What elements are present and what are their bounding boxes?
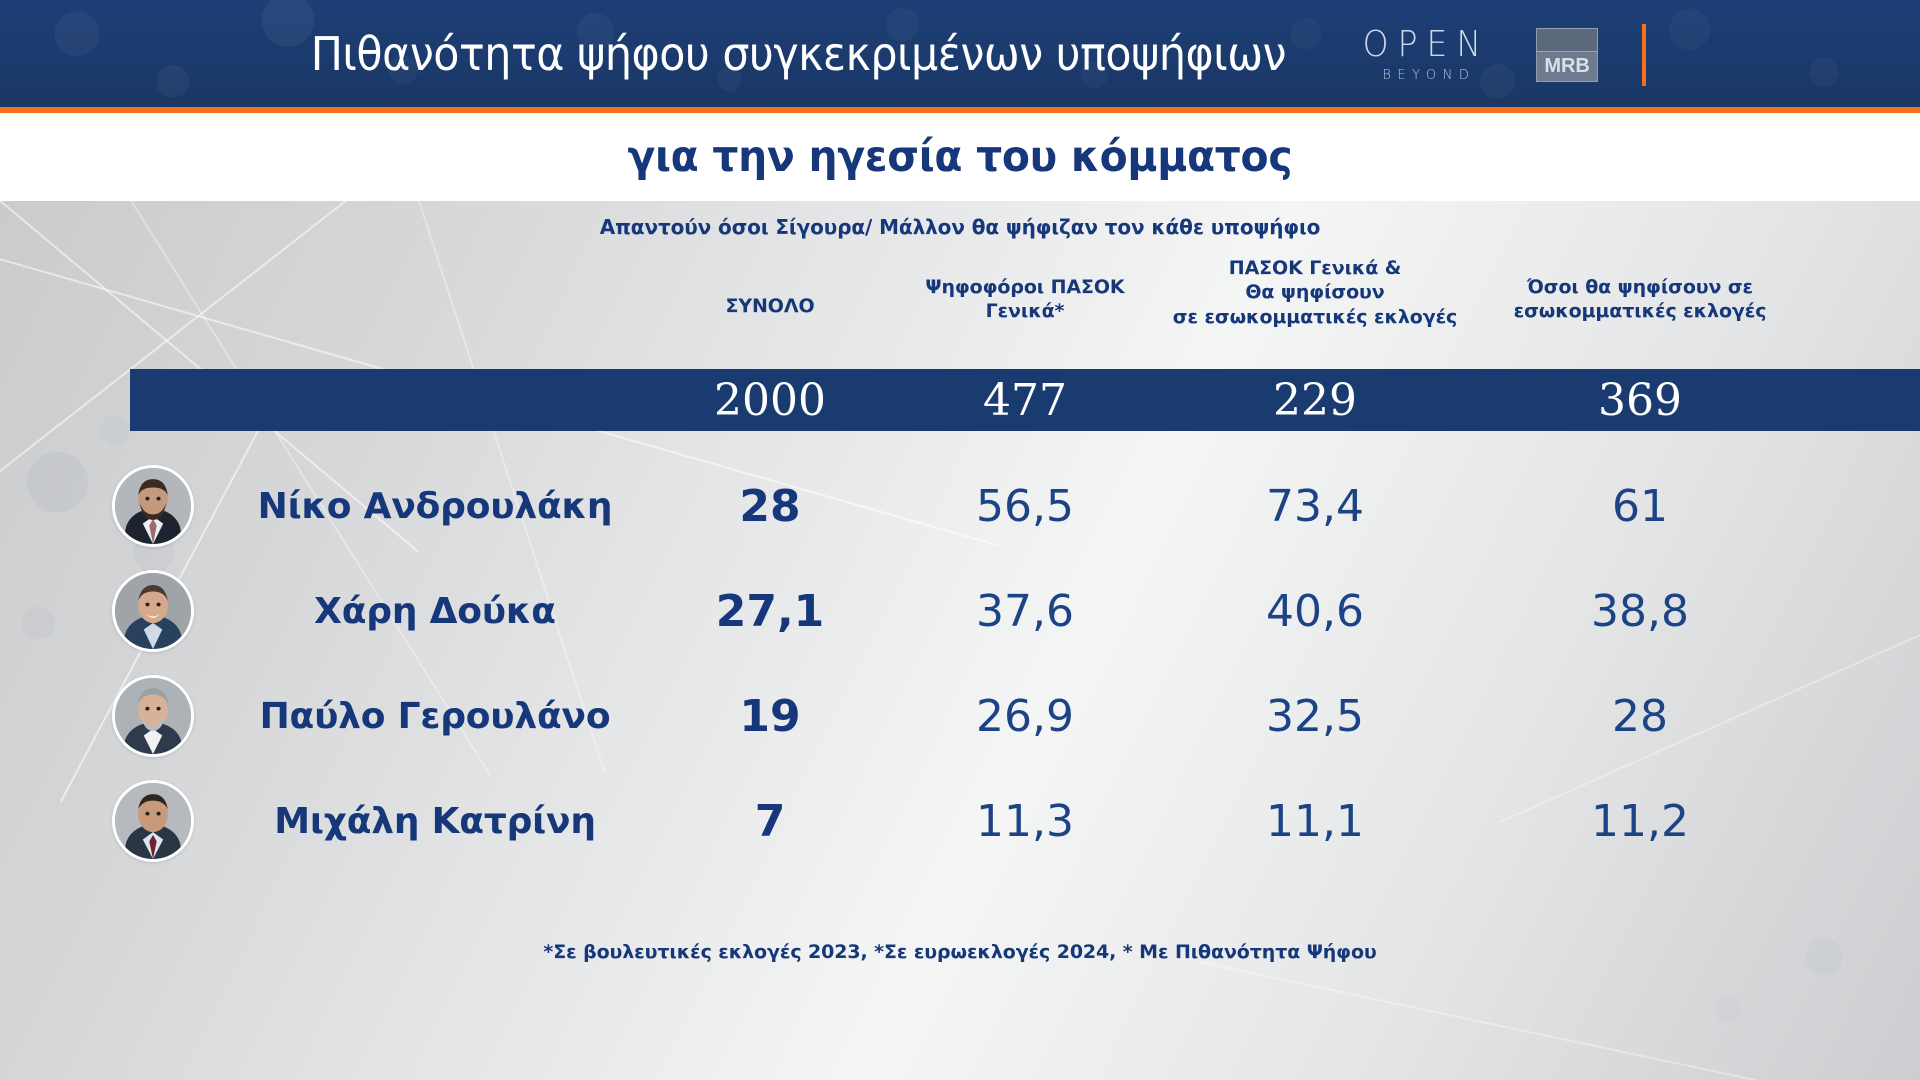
value-synolo: 27,1 xyxy=(660,559,880,664)
value-internal-voters: 28 xyxy=(1470,664,1810,769)
column-headers: ΣΥΝΟΛΟ Ψηφοφόροι ΠΑΣΟΚ Γενικά* ΠΑΣΟΚ Γεν… xyxy=(0,256,1920,366)
open-beyond-logo: OPEN BEYOND xyxy=(1363,27,1490,83)
sample-size-pasok-voters: 477 xyxy=(890,369,1160,431)
value-pasok-and-internal: 73,4 xyxy=(1165,454,1465,559)
avatar xyxy=(112,780,194,862)
footnote: *Σε βουλευτικές εκλογές 2023, *Σε ευρωεκ… xyxy=(0,941,1920,963)
column-header-internal-voters: Όσοι θα ψηφίσουν σε εσωκομματικές εκλογέ… xyxy=(1470,275,1810,324)
portrait-androulakis-icon xyxy=(115,468,191,544)
mrb-logo-top-block xyxy=(1537,29,1597,51)
candidate-name: Μιχάλη Κατρίνη xyxy=(210,769,660,874)
value-pasok-and-internal: 40,6 xyxy=(1165,559,1465,664)
portrait-geroulanos-icon xyxy=(115,678,191,754)
column-header-line: Ψηφοφόροι ΠΑΣΟΚ xyxy=(890,275,1160,299)
column-header-line: Θα ψηφίσουν xyxy=(1165,280,1465,304)
column-header-synolo: ΣΥΝΟΛΟ xyxy=(660,294,880,318)
value-pasok-voters: 26,9 xyxy=(890,664,1160,769)
mrb-logo-bottom-block: MRB xyxy=(1537,51,1597,81)
open-wordmark-row: OPEN xyxy=(1363,27,1490,60)
candidate-name: Παύλο Γερουλάνο xyxy=(210,664,660,769)
page-header: Πιθανότητα ψήφου συγκεκριμένων υποψήφιων… xyxy=(0,0,1920,113)
avatar xyxy=(112,465,194,547)
portrait-doukas-icon xyxy=(115,573,191,649)
candidate-name: Χάρη Δούκα xyxy=(210,559,660,664)
avatar xyxy=(112,570,194,652)
value-internal-voters: 38,8 xyxy=(1470,559,1810,664)
table-row: Νίκο Ανδρουλάκη 28 56,5 73,4 61 xyxy=(0,454,1920,559)
table-row: Χάρη Δούκα 27,1 37,6 40,6 38,8 xyxy=(0,559,1920,664)
table-row: Παύλο Γερουλάνο 19 26,9 32,5 28 xyxy=(0,664,1920,769)
table-row: Μιχάλη Κατρίνη 7 11,3 11,1 11,2 xyxy=(0,769,1920,874)
open-wordmark: OPEN xyxy=(1363,25,1490,61)
sample-size-band: 2000 477 229 369 xyxy=(130,369,1920,431)
value-synolo: 28 xyxy=(660,454,880,559)
value-internal-voters: 61 xyxy=(1470,454,1810,559)
header-inner: Πιθανότητα ψήφου συγκεκριμένων υποψήφιων… xyxy=(0,0,1920,107)
value-internal-voters: 11,2 xyxy=(1470,769,1810,874)
value-pasok-voters: 37,6 xyxy=(890,559,1160,664)
column-header-line: Γενικά* xyxy=(890,299,1160,323)
value-pasok-voters: 56,5 xyxy=(890,454,1160,559)
mrb-wordmark: MRB xyxy=(1544,55,1590,78)
column-header-pasok-voters: Ψηφοφόροι ΠΑΣΟΚ Γενικά* xyxy=(890,275,1160,324)
column-header-line: σε εσωκομματικές εκλογές xyxy=(1165,305,1465,329)
subtitle-band: για την ηγεσία του κόμματος xyxy=(0,113,1920,201)
methodology-note: Απαντούν όσοι Σίγουρα/ Μάλλον θα ψήφιζαν… xyxy=(0,215,1920,239)
column-header-pasok-and-internal: ΠΑΣΟΚ Γενικά & Θα ψηφίσουν σε εσωκομματι… xyxy=(1165,256,1465,329)
orange-accent-tick xyxy=(1642,24,1646,86)
page-title: Πιθανότητα ψήφου συγκεκριμένων υποψήφιων xyxy=(311,27,1286,81)
column-header-line: εσωκομματικές εκλογές xyxy=(1470,299,1810,323)
sample-size-pasok-and-internal: 229 xyxy=(1165,369,1465,431)
value-pasok-and-internal: 32,5 xyxy=(1165,664,1465,769)
column-header-line: ΣΥΝΟΛΟ xyxy=(660,294,880,318)
value-synolo: 19 xyxy=(660,664,880,769)
portrait-katrinis-icon xyxy=(115,783,191,859)
beyond-wordmark: BEYOND xyxy=(1382,68,1475,83)
table-content: Απαντούν όσοι Σίγουρα/ Μάλλον θα ψήφιζαν… xyxy=(0,201,1920,1080)
column-header-line: ΠΑΣΟΚ Γενικά & xyxy=(1165,256,1465,280)
column-header-line: Όσοι θα ψηφίσουν σε xyxy=(1470,275,1810,299)
mrb-logo: MRB xyxy=(1536,28,1598,82)
candidate-name: Νίκο Ανδρουλάκη xyxy=(210,454,660,559)
value-pasok-and-internal: 11,1 xyxy=(1165,769,1465,874)
content-background: Απαντούν όσοι Σίγουρα/ Μάλλον θα ψήφιζαν… xyxy=(0,201,1920,1080)
sample-size-synolo: 2000 xyxy=(660,369,880,431)
page-subtitle: για την ηγεσία του κόμματος xyxy=(628,132,1293,182)
value-pasok-voters: 11,3 xyxy=(890,769,1160,874)
sample-size-internal-voters: 369 xyxy=(1470,369,1810,431)
avatar xyxy=(112,675,194,757)
value-synolo: 7 xyxy=(660,769,880,874)
